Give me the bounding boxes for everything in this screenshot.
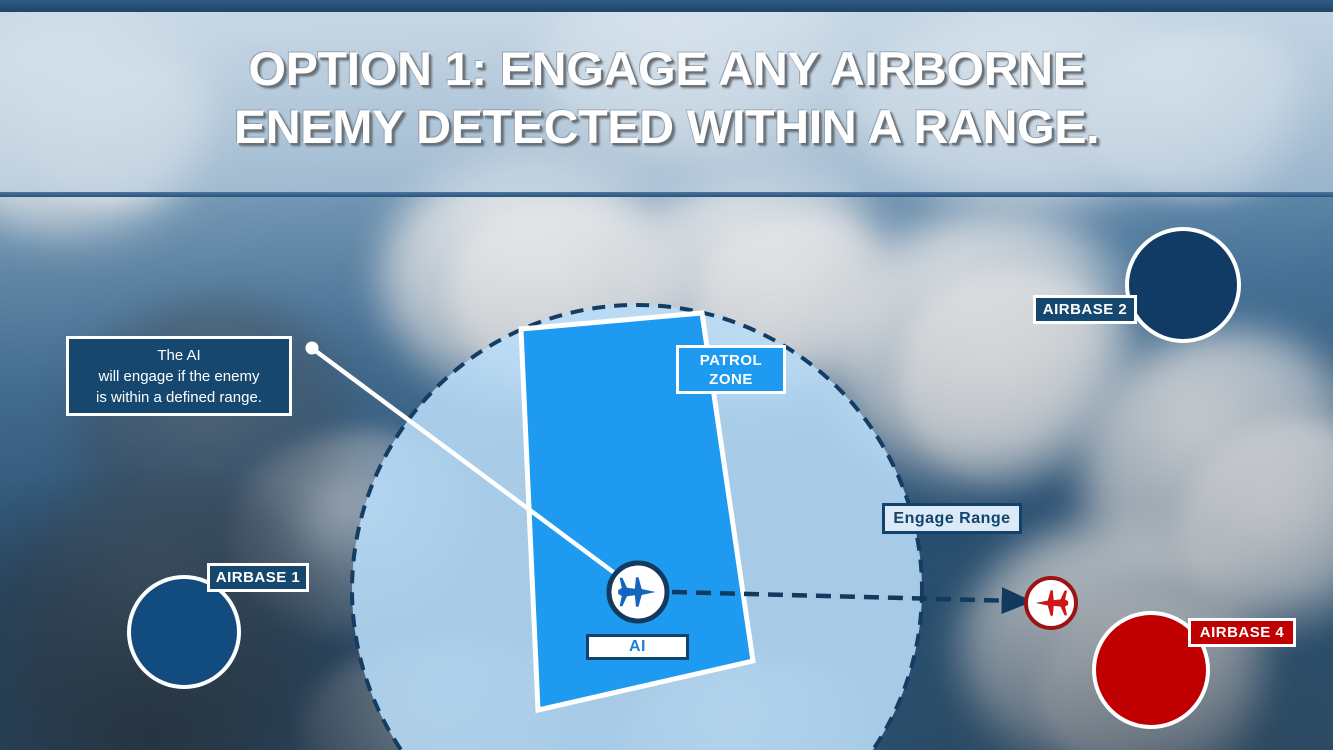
airbase-2-marker[interactable]	[1127, 229, 1239, 341]
airbase-1-label[interactable]: AIRBASE 1	[207, 563, 309, 592]
enemy-jet-marker[interactable]	[1026, 578, 1076, 628]
top-accent-strip	[0, 0, 1333, 12]
patrol-zone-label[interactable]: PATROL ZONE	[676, 345, 786, 394]
engage-range-label[interactable]: Engage Range	[882, 503, 1022, 534]
ai-label[interactable]: AI	[586, 634, 689, 660]
airbase-4-label[interactable]: AIRBASE 4	[1188, 618, 1296, 647]
callout-line-3: is within a defined range.	[96, 387, 262, 408]
page-title: OPTION 1: ENGAGE ANY AIRBORNE ENEMY DETE…	[0, 40, 1333, 156]
callout-line-1: The AI	[157, 345, 200, 366]
callout-line-2: will engage if the enemy	[99, 366, 260, 387]
page-title-line-1: OPTION 1: ENGAGE ANY AIRBORNE	[0, 40, 1333, 98]
page-title-line-2: ENEMY DETECTED WITHIN A RANGE.	[0, 98, 1333, 156]
ai-jet-marker[interactable]	[609, 563, 667, 621]
ai-behaviour-callout: The AI will engage if the enemy is withi…	[66, 336, 292, 416]
airbase-1-marker[interactable]	[129, 577, 239, 687]
airbase-2-label[interactable]: AIRBASE 2	[1033, 295, 1137, 324]
title-band-rule	[0, 192, 1333, 197]
slide-canvas: OPTION 1: ENGAGE ANY AIRBORNE ENEMY DETE…	[0, 0, 1333, 750]
